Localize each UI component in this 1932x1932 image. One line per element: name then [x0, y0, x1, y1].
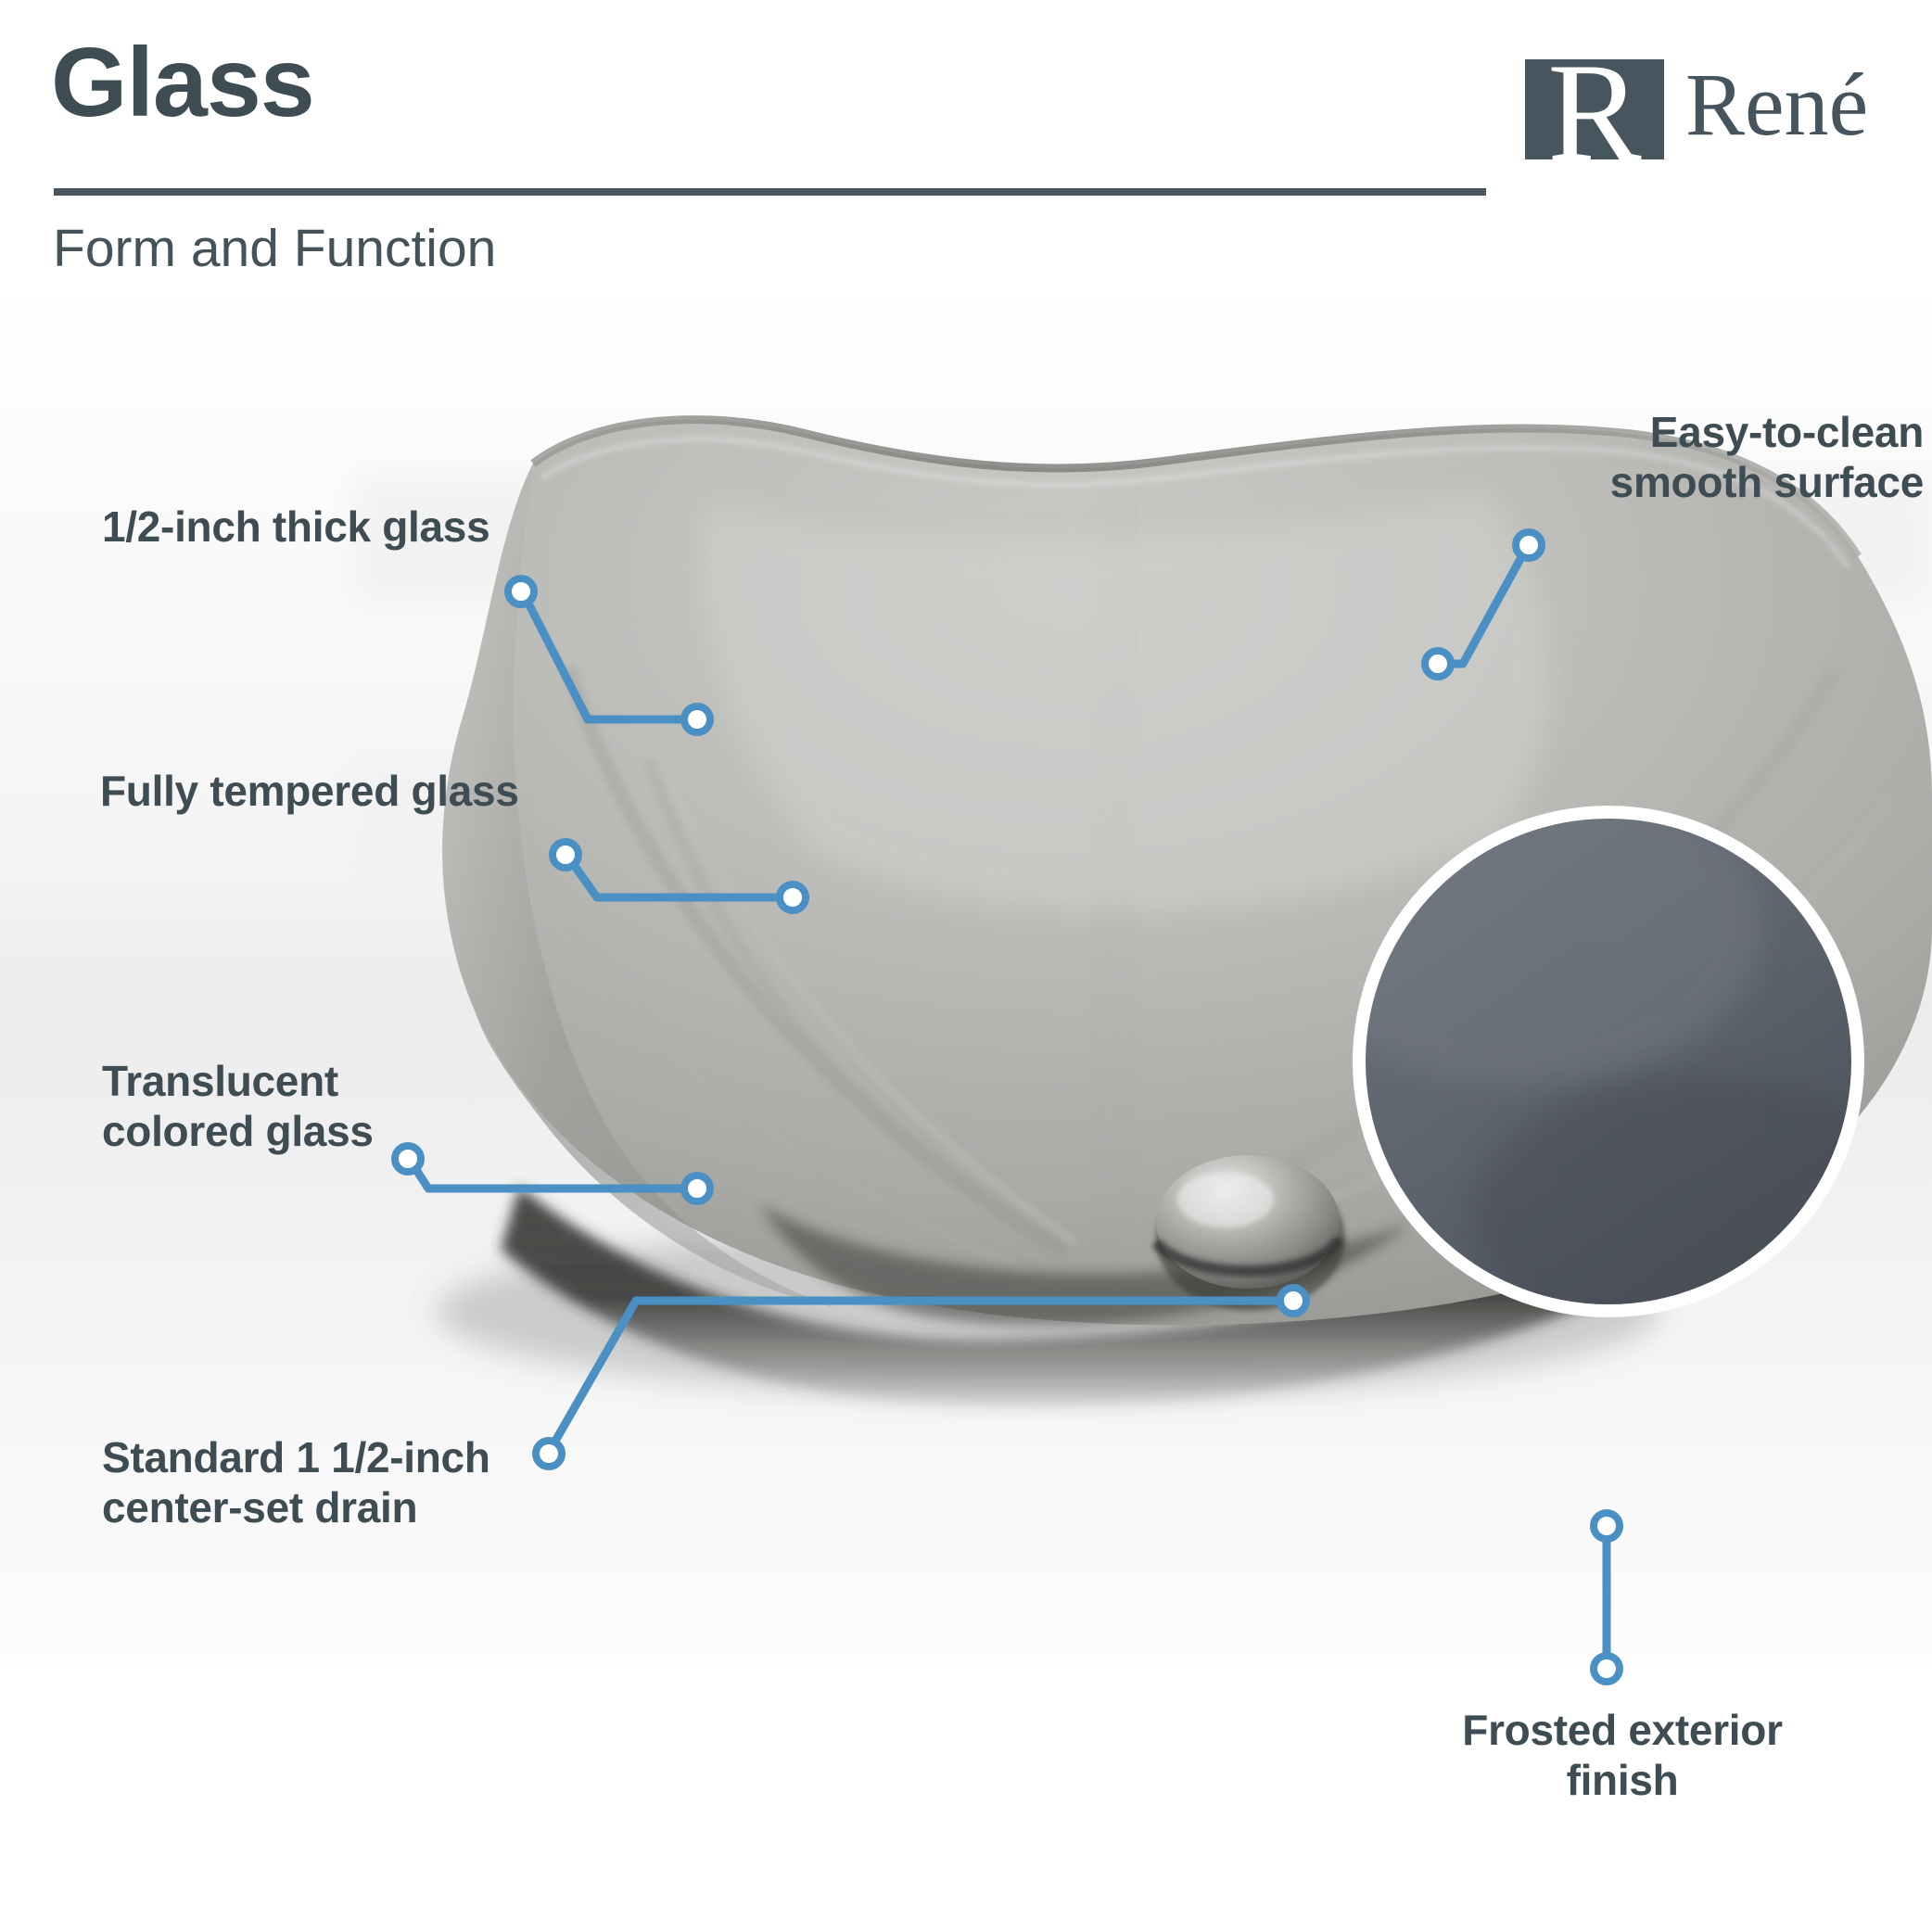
- callout-label-center-set-drain: Standard 1 1/2-inch center-set drain: [102, 1433, 490, 1533]
- page-title: Glass: [51, 33, 314, 132]
- page-subtitle: Form and Function: [53, 222, 496, 275]
- brand-logo-mark: R: [1525, 59, 1664, 159]
- callout-label-smooth-surface: Easy-to-clean smooth surface: [1534, 408, 1924, 508]
- brand-logo-letter: R: [1525, 43, 1664, 182]
- vessel-upper-highlight: [700, 491, 1549, 910]
- callout-label-translucent-glass: Translucent colored glass: [102, 1057, 374, 1157]
- callout-label-frosted-finish: Frosted exterior finish: [1428, 1706, 1817, 1806]
- callout-label-thick-glass: 1/2-inch thick glass: [102, 502, 489, 553]
- center-set-drain: [1156, 1155, 1345, 1311]
- infographic-canvas: Glass Form and Function R René: [0, 0, 1932, 1932]
- header-divider: [54, 188, 1486, 196]
- callout-label-tempered-glass: Fully tempered glass: [100, 767, 519, 817]
- brand-name: René: [1685, 56, 1868, 154]
